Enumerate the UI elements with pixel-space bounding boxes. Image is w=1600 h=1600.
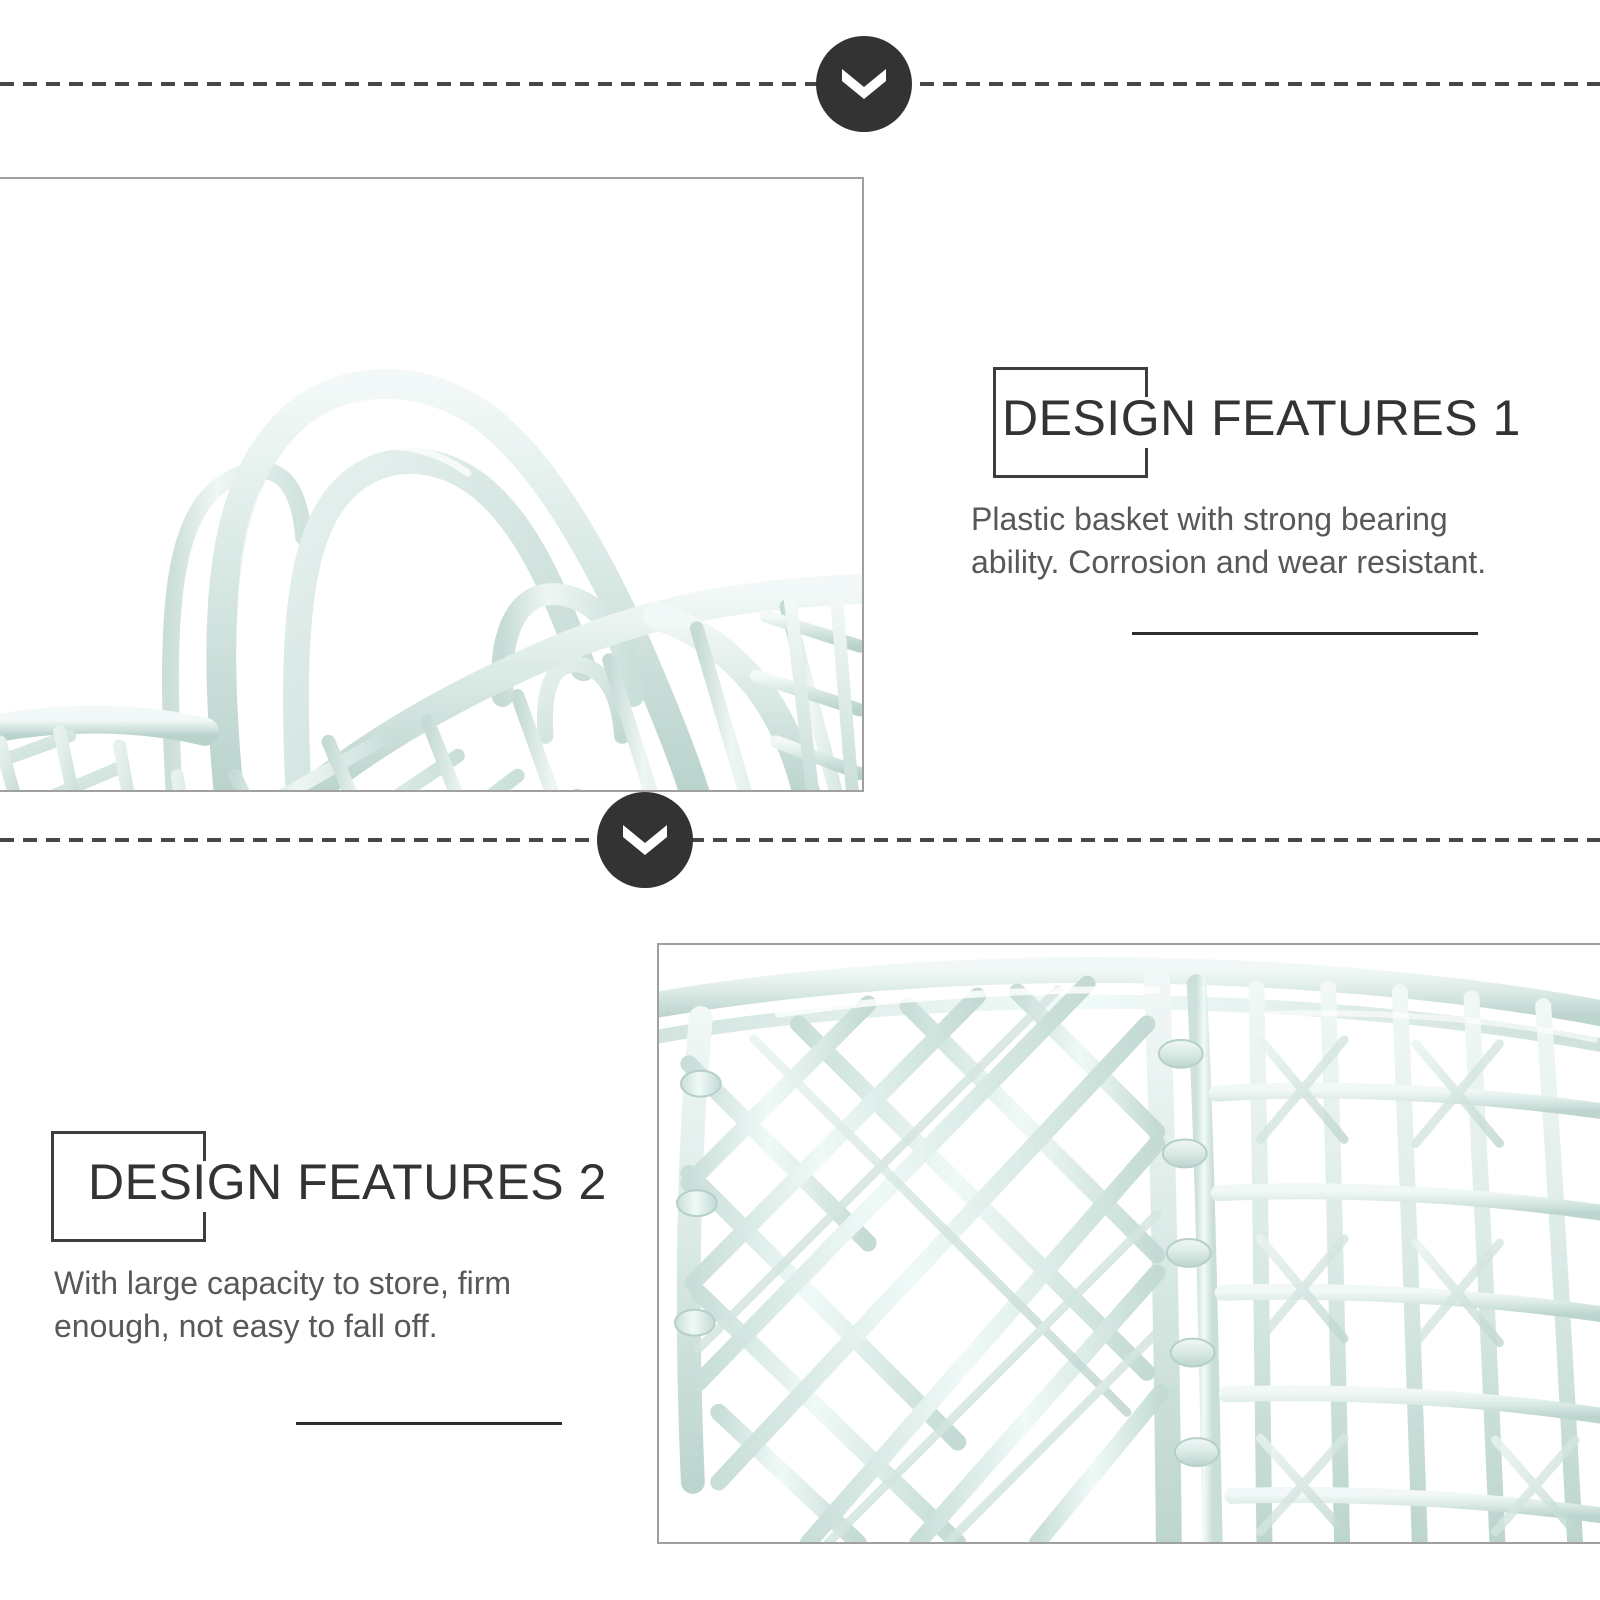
heading-frame-stub-bottom xyxy=(203,1212,206,1242)
chevron-down-icon xyxy=(839,64,889,104)
basket-body-illustration xyxy=(659,945,1600,1542)
feature-2-underline xyxy=(296,1422,562,1425)
dashed-rule xyxy=(0,838,1600,842)
chevron-down-badge xyxy=(597,792,693,888)
heading-frame-stub-bottom xyxy=(1145,448,1148,478)
chevron-down-badge xyxy=(816,36,912,132)
dashed-rule xyxy=(0,82,1600,86)
basket-handle-closeup xyxy=(0,177,864,792)
chevron-down-icon xyxy=(620,820,670,860)
basket-body-closeup xyxy=(657,943,1600,1544)
feature-1-description: Plastic basket with strong bearing abili… xyxy=(971,498,1491,584)
divider-top xyxy=(0,36,1600,132)
divider-middle xyxy=(0,792,1600,888)
infographic-page: DESIGN FEATURES 1 Plastic basket with st… xyxy=(0,0,1600,1600)
feature-1-title: DESIGN FEATURES 1 xyxy=(1002,393,1521,443)
feature-2-description: With large capacity to store, firm enoug… xyxy=(54,1262,574,1348)
feature-1-underline xyxy=(1132,632,1478,635)
feature-2-title: DESIGN FEATURES 2 xyxy=(88,1157,607,1207)
basket-handle-illustration xyxy=(0,179,862,790)
